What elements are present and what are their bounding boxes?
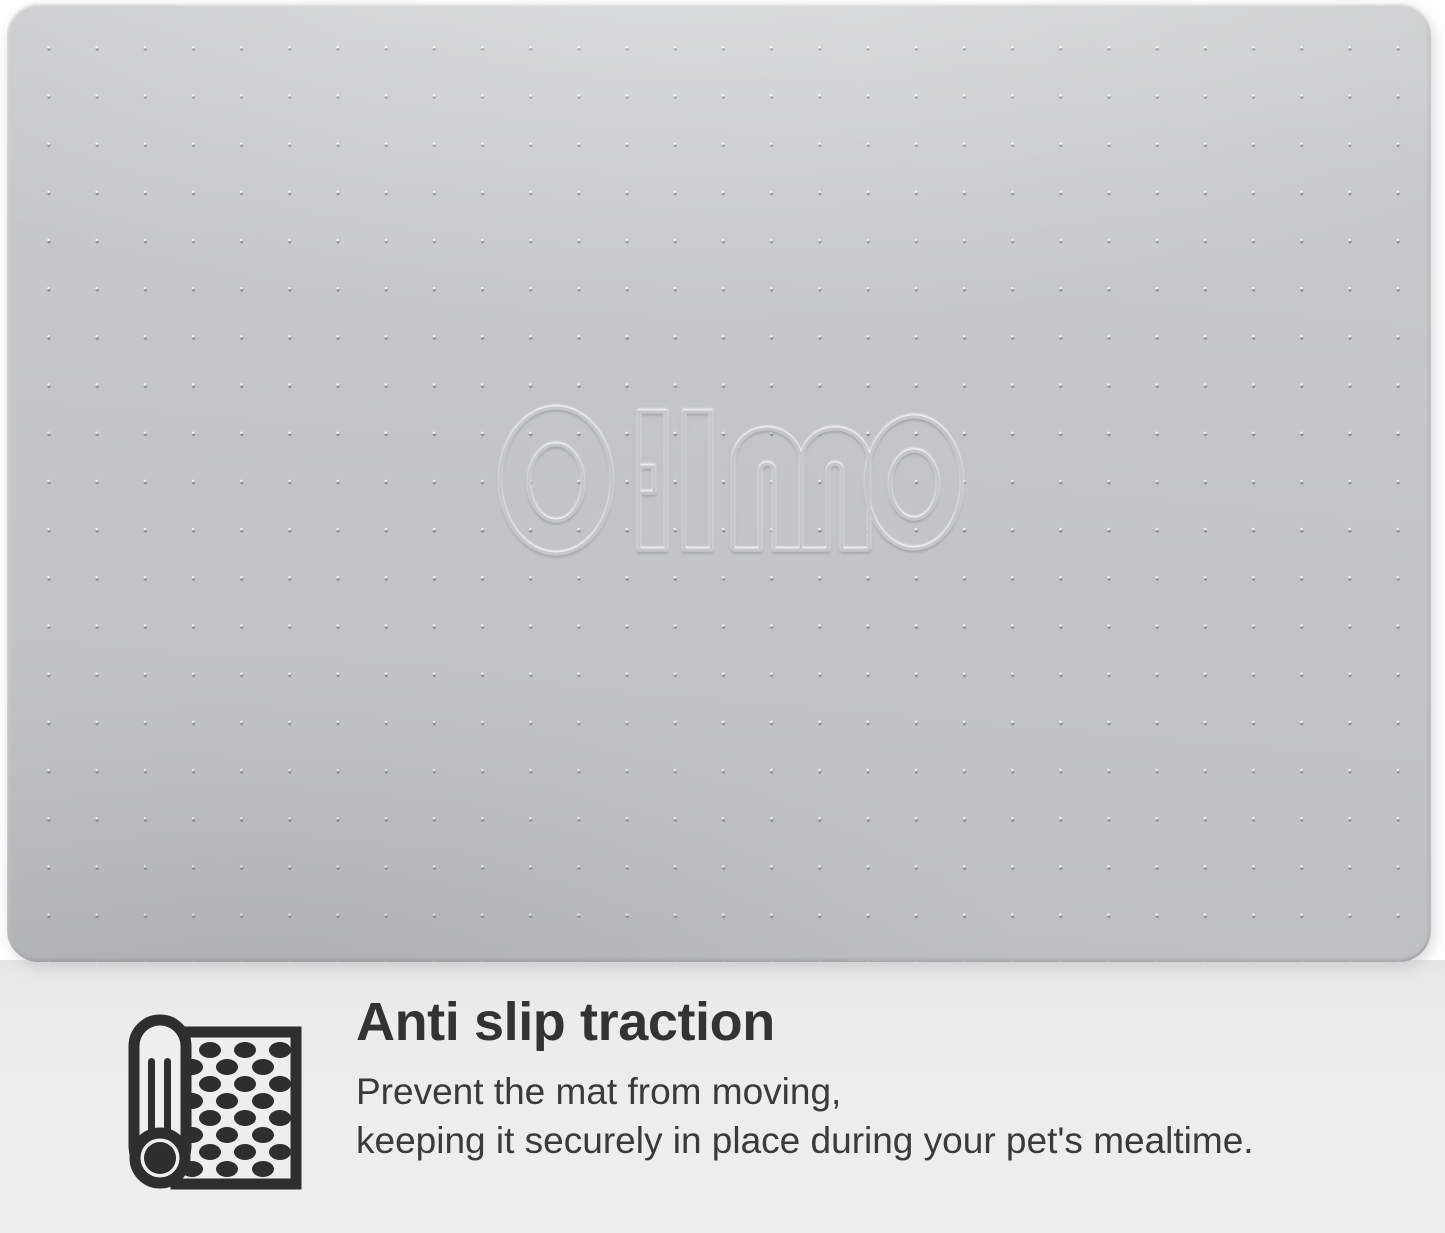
mat-surface-sheen — [7, 3, 1431, 962]
oimo-brand-wordmark — [494, 401, 966, 561]
feature-text-block: Anti slip traction Prevent the mat from … — [356, 992, 1254, 1166]
rolled-mat-with-dots-icon — [112, 998, 308, 1194]
feature-description: Prevent the mat from moving, keeping it … — [356, 1067, 1254, 1165]
feature-title: Anti slip traction — [356, 994, 1254, 1051]
anti-slip-dimple-grid — [7, 3, 1431, 962]
product-feature-image: Anti slip traction Prevent the mat from … — [0, 0, 1445, 1233]
silicone-mat — [7, 3, 1431, 962]
feature-callout: Anti slip traction Prevent the mat from … — [0, 992, 1445, 1194]
feature-description-line-1: Prevent the mat from moving, — [356, 1067, 1254, 1116]
feature-description-line-2: keeping it securely in place during your… — [356, 1116, 1254, 1165]
